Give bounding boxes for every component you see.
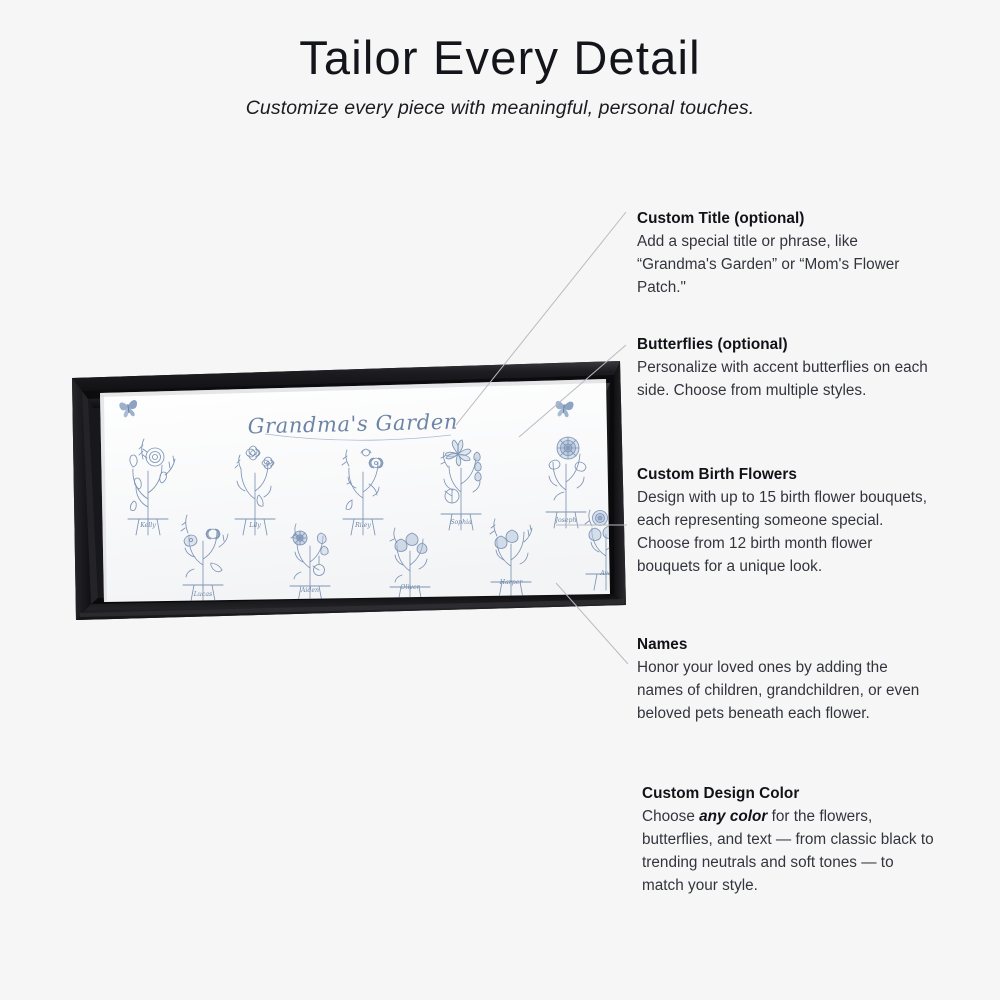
callout-heading: Butterflies (optional) xyxy=(637,334,929,356)
callout-heading: Custom Birth Flowers xyxy=(637,464,937,486)
bouquet-name: Lucas xyxy=(193,591,212,598)
callout-custom-title: Custom Title (optional) Add a special ti… xyxy=(637,208,929,300)
callout-heading: Names xyxy=(637,634,937,656)
callout-body: Design with up to 15 birth flower bouque… xyxy=(637,487,937,579)
callout-heading: Custom Design Color xyxy=(642,783,934,805)
artwork-script-title: Grandma's Garden xyxy=(247,410,458,439)
bouquet-name: Joseph xyxy=(554,517,577,524)
callout-body: Personalize with accent butterflies on e… xyxy=(637,357,929,403)
callout-body: Add a special title or phrase, like “Gra… xyxy=(637,231,929,300)
callout-butterflies: Butterflies (optional) Personalize with … xyxy=(637,334,929,403)
callout-body: Choose any color for the flowers, butter… xyxy=(642,806,934,898)
bouquet-name: Sophia xyxy=(450,519,472,526)
promo-page: Tailor Every Detail Customize every piec… xyxy=(0,0,1000,1000)
bouquet-name: Riley xyxy=(354,522,371,529)
callout-custom-design-color: Custom Design Color Choose any color for… xyxy=(642,783,934,898)
callout-names: Names Honor your loved ones by adding th… xyxy=(637,634,937,726)
bouquet-name: Kelly xyxy=(139,522,156,529)
framed-artwork: Grandma's Garden xyxy=(58,358,638,633)
page-title: Tailor Every Detail xyxy=(0,32,1000,84)
page-subtitle: Customize every piece with meaningful, p… xyxy=(0,97,1000,120)
bouquet-name: Harper xyxy=(499,579,524,586)
callout-body-emphasis: any color xyxy=(699,808,767,825)
callout-body: Honor your loved ones by adding the name… xyxy=(637,657,937,726)
bouquet-name: Lily xyxy=(248,522,261,529)
bouquet-name: Oliver xyxy=(400,584,420,591)
callout-heading: Custom Title (optional) xyxy=(637,208,929,230)
bouquet-name: Aiden xyxy=(300,587,319,594)
callout-body-pre: Choose xyxy=(642,808,699,825)
callout-custom-birth-flowers: Custom Birth Flowers Design with up to 1… xyxy=(637,464,937,579)
